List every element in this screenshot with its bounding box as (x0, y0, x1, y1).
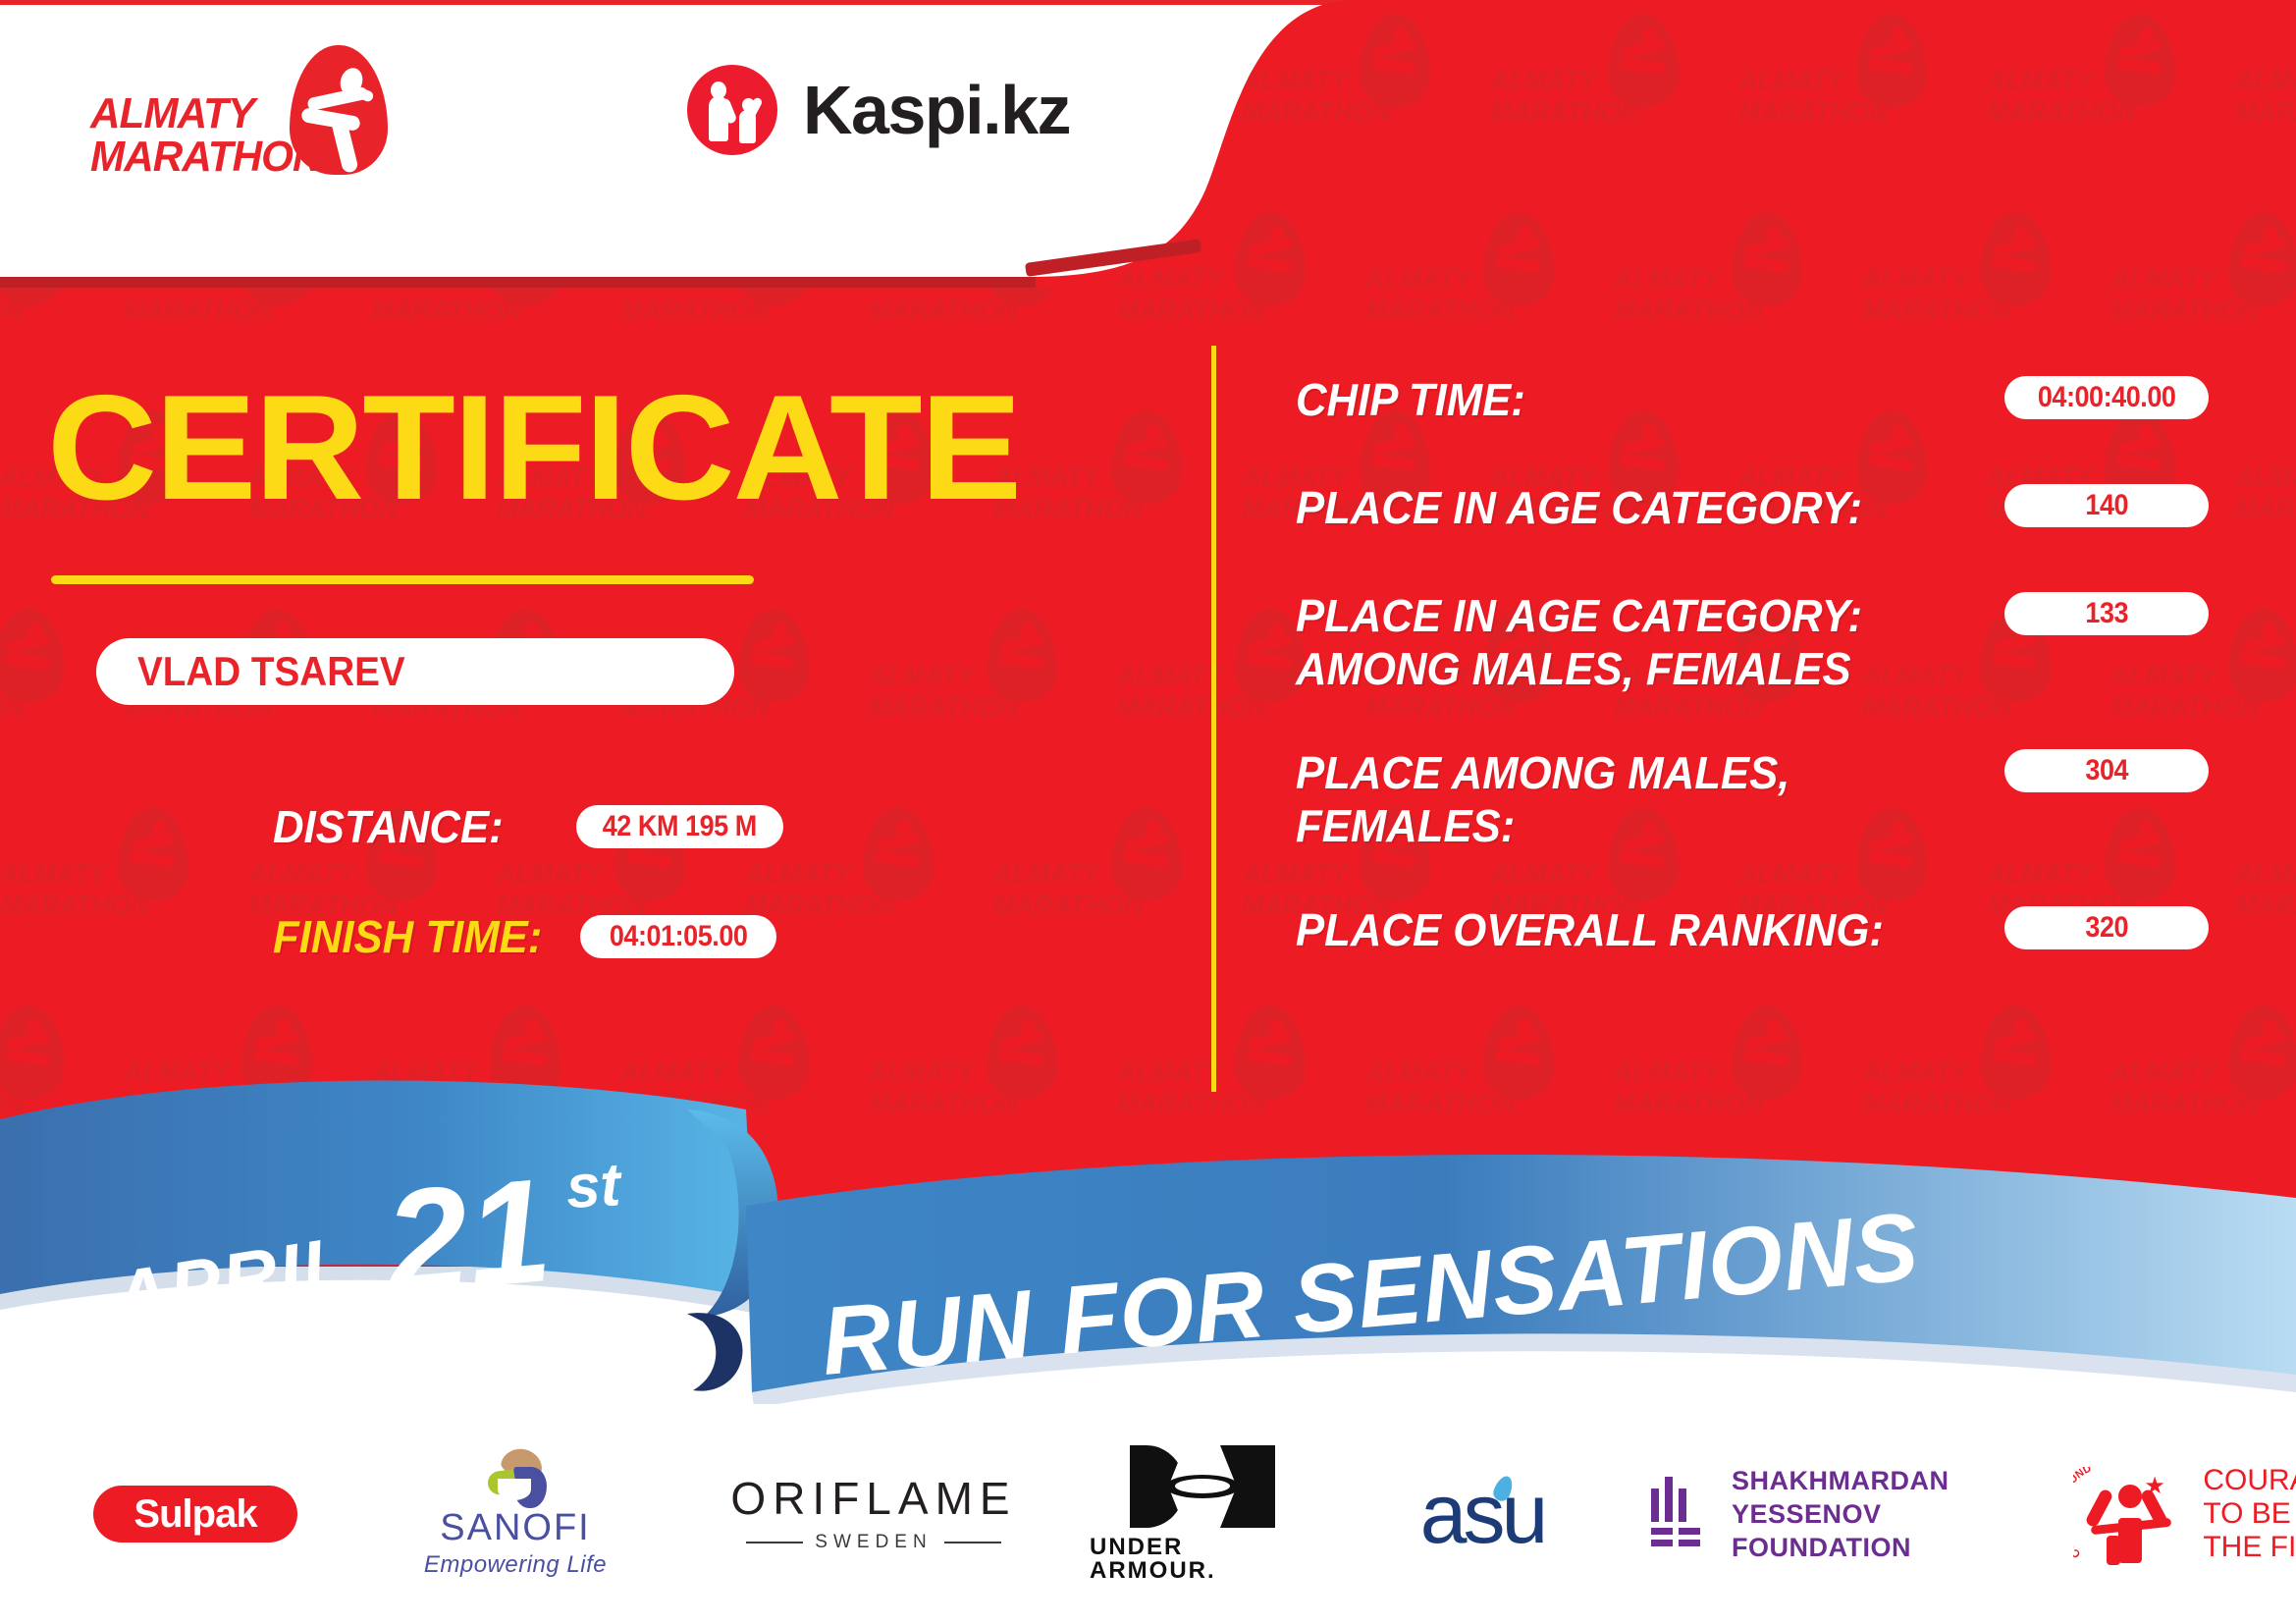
stat-label-line: PLACE OVERALL RANKING: (1296, 903, 1884, 956)
stat-label: CHIP TIME: (1296, 373, 1538, 426)
courage-figure-icon: CORPORATE FUND ★ (2073, 1457, 2187, 1571)
stat-value-pill: 320 (2004, 906, 2209, 949)
stat-label: PLACE AMONG MALES,FEMALES: (1296, 746, 1803, 852)
stat-value: 04:00:40.00 (2038, 383, 2176, 412)
finish-time-label: FINISH TIME: (273, 913, 542, 960)
sponsor-sulpak: Sulpak (92, 1486, 298, 1543)
watermark-line1: ALMATY (497, 65, 603, 98)
stat-label-line: CHIP TIME: (1296, 373, 1525, 426)
stat-row: PLACE IN AGE CATEGORY:140 (1296, 481, 2209, 538)
watermark-runner-head (1021, 226, 1036, 244)
stat-value: 133 (2085, 599, 2128, 628)
yessenov-label: SHAKHMARDAN YESSENOV FOUNDATION (1732, 1464, 2022, 1564)
watermark-runner-head (773, 226, 787, 244)
athlete-name-value: VLAD TSAREV (137, 651, 405, 692)
asu-label: asu (1420, 1472, 1545, 1556)
stat-label: PLACE OVERALL RANKING: (1296, 903, 1896, 956)
finish-time-value-pill: 04:01:05.00 (580, 915, 776, 958)
stat-label: PLACE IN AGE CATEGORY:AMONG MALES, FEMAL… (1296, 589, 1875, 695)
stat-value: 320 (2085, 913, 2128, 943)
stat-row: PLACE AMONG MALES,FEMALES:304 (1296, 746, 2209, 852)
oriflame-sub-row: SWEDEN (726, 1532, 1021, 1553)
courage-line3: THE FIRST! (2203, 1531, 2296, 1564)
watermark-runner-head (649, 27, 664, 45)
distance-value-pill: 42 KM 195 M (576, 805, 783, 848)
sponsor-oriflame: ORIFLAME SWEDEN (726, 1475, 1021, 1553)
watermark-line2: MARATHON (497, 96, 646, 130)
watermark-runner-head (1146, 27, 1160, 45)
oriflame-rule-right (944, 1542, 1001, 1543)
sulpak-label: Sulpak (133, 1494, 256, 1534)
stat-label-line: PLACE IN AGE CATEGORY: (1296, 481, 1862, 534)
sponsor-asu: asu (1374, 1472, 1590, 1556)
sponsor-courage-to-be-the-first: CORPORATE FUND ★ COURAGE TO BE THE FIRST… (2071, 1457, 2296, 1571)
oriflame-rule-left (746, 1542, 803, 1543)
red-panel-top-edge (0, 277, 1036, 288)
courage-label: COURAGE TO BE THE FIRST! (2203, 1464, 2296, 1564)
watermark-runner-head (897, 27, 912, 45)
oriflame-label: ORIFLAME (730, 1475, 1016, 1522)
stat-row: PLACE IN AGE CATEGORY:AMONG MALES, FEMAL… (1296, 589, 2209, 695)
yessenov-bars-icon (1649, 1475, 1706, 1553)
watermark-runner-head (276, 226, 291, 244)
page-title: CERTIFICATE (47, 373, 1020, 522)
distance-value: 42 KM 195 M (603, 812, 757, 841)
yessenov-line1: SHAKHMARDAN YESSENOV (1732, 1464, 2022, 1531)
oriflame-sub-label: SWEDEN (815, 1532, 932, 1553)
kaspi-people-icon (687, 65, 777, 155)
stat-value-pill: 140 (2004, 484, 2209, 527)
almaty-logo-line1: ALMATY (90, 92, 254, 135)
almaty-marathon-logo: ALMATY MARATHON (90, 43, 404, 171)
stat-label-line: FEMALES: (1296, 799, 1789, 852)
stat-row: CHIP TIME:04:00:40.00 (1296, 373, 2209, 430)
distance-row: DISTANCE: 42 KM 195 M (273, 803, 783, 850)
courage-line1: COURAGE (2203, 1464, 2296, 1497)
sanofi-bird-icon (480, 1449, 551, 1504)
stat-value-pill: 04:00:40.00 (2004, 376, 2209, 419)
watermark-runner-drop-icon (1111, 14, 1182, 107)
sanofi-label: SANOFI (440, 1508, 590, 1547)
sponsor-under-armour: UNDER ARMOUR. (1090, 1445, 1315, 1583)
under-armour-label: UNDER ARMOUR. (1090, 1536, 1315, 1583)
watermark-runner-head (524, 226, 539, 244)
asu-logo: asu (1420, 1472, 1545, 1556)
sanofi-tagline: Empowering Life (424, 1551, 607, 1579)
athlete-name-field: VLAD TSAREV (96, 638, 734, 705)
under-armour-icon (1130, 1445, 1275, 1528)
stat-value: 304 (2085, 756, 2128, 785)
results-stats-list: CHIP TIME:04:00:40.00PLACE IN AGE CATEGO… (1296, 373, 2209, 1011)
sponsor-strip: Sulpak SANOFI Empowering Life ORIFLAME S… (0, 1404, 2296, 1624)
sponsor-shakhmardan-yessenov-foundation: SHAKHMARDAN YESSENOV FOUNDATION (1649, 1464, 2022, 1564)
finish-time-value: 04:01:05.00 (609, 922, 747, 951)
stat-label-line: AMONG MALES, FEMALES (1296, 642, 1862, 695)
yessenov-line2: FOUNDATION (1732, 1531, 2022, 1564)
stat-label-line: PLACE AMONG MALES, (1296, 746, 1789, 799)
stat-row: PLACE OVERALL RANKING:320 (1296, 903, 2209, 960)
certificate-canvas: ALMATYMARATHONALMATYMARATHONALMATYMARATH… (0, 0, 2296, 1624)
title-underline (51, 575, 754, 584)
ribbon-day: 21 (376, 1147, 557, 1326)
almaty-logo-line2: MARATHON (90, 135, 322, 179)
stat-label-line: PLACE IN AGE CATEGORY: (1296, 589, 1862, 642)
kaspi-logo: Kaspi.kz (687, 61, 1070, 159)
courage-line2: TO BE (2203, 1497, 2296, 1531)
stat-label: PLACE IN AGE CATEGORY: (1296, 481, 1875, 534)
distance-label: DISTANCE: (273, 803, 504, 850)
ribbon-day-suffix: st (564, 1151, 624, 1221)
vertical-divider (1211, 346, 1216, 1092)
watermark-runner-head (27, 226, 42, 244)
stat-value-pill: 304 (2004, 749, 2209, 792)
sulpak-logo: Sulpak (93, 1486, 297, 1543)
stat-value: 140 (2085, 491, 2128, 520)
kaspi-logo-text: Kaspi.kz (803, 76, 1070, 144)
sponsor-sanofi: SANOFI Empowering Life (402, 1449, 628, 1579)
watermark-runner-drop-icon (614, 14, 685, 107)
stat-value-pill: 133 (2004, 592, 2209, 635)
blue-ribbon-banner: APRIL 21 st RUN FOR SENSATIONS (0, 1080, 2296, 1404)
finish-time-row: FINISH TIME: 04:01:05.00 (273, 913, 776, 960)
